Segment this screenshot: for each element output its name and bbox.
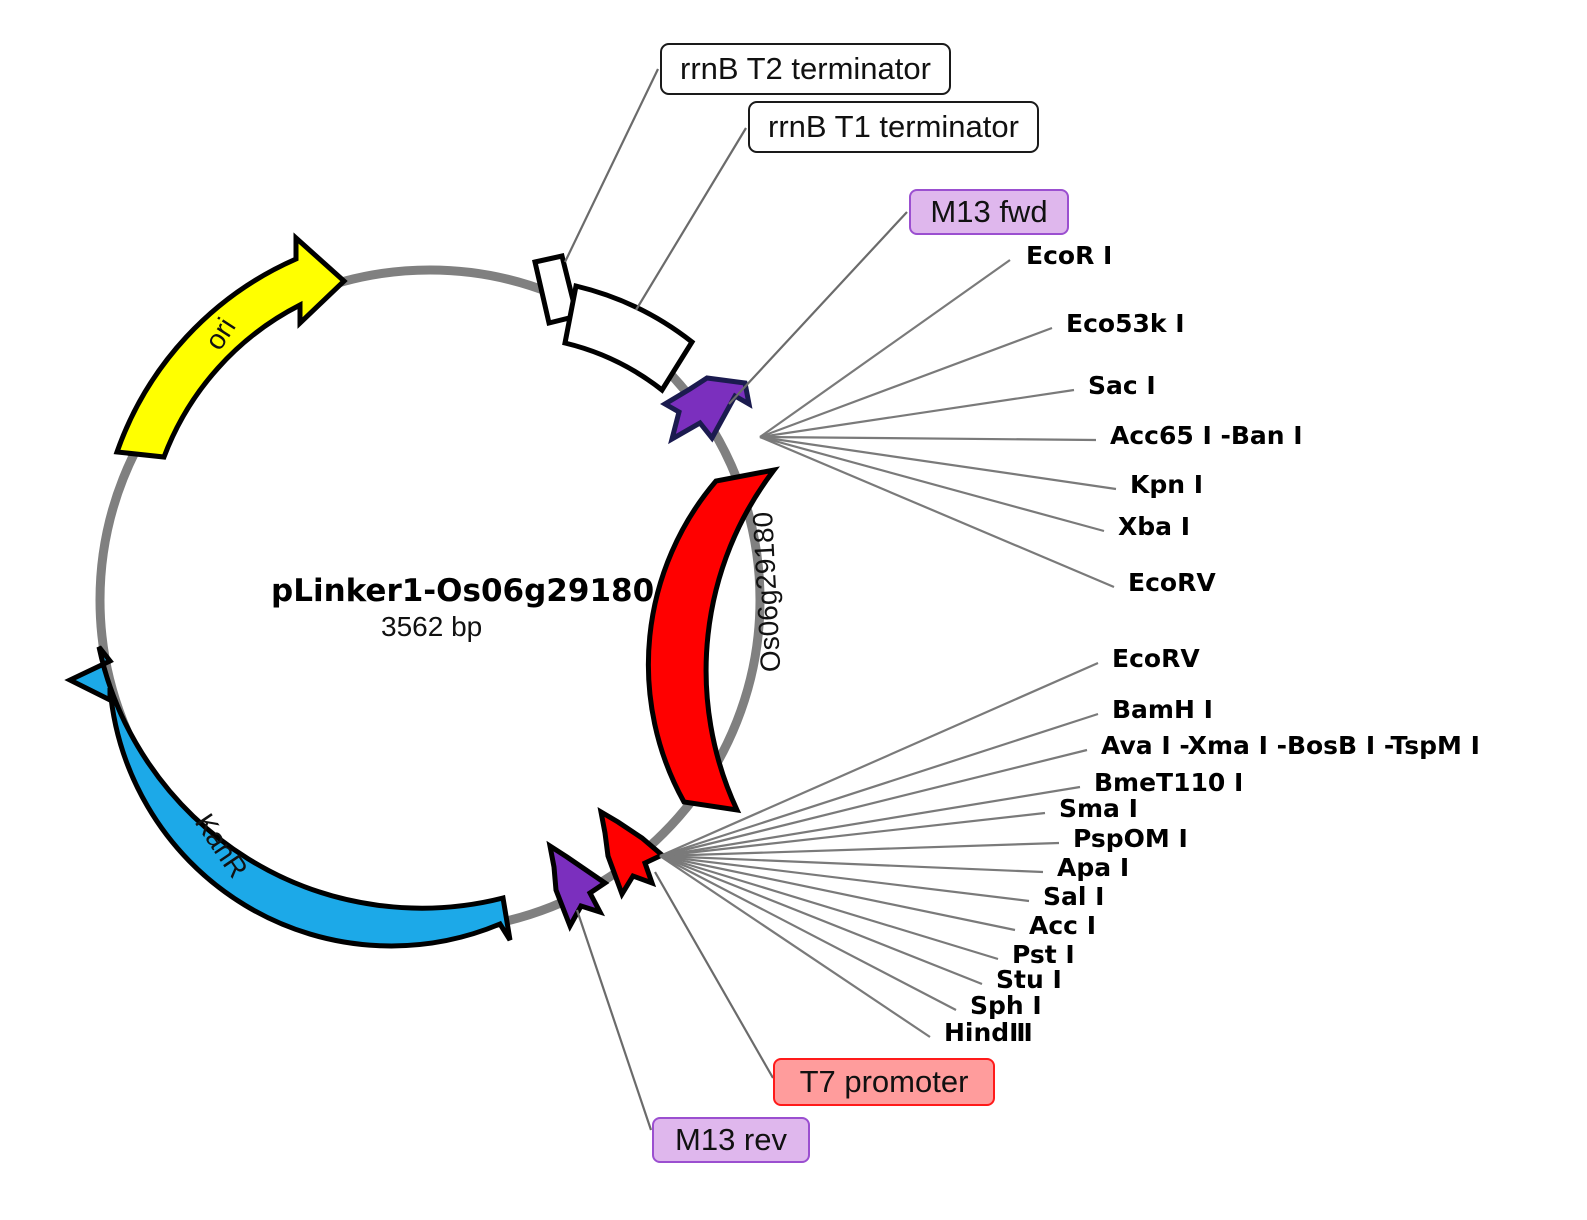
restriction-site-label: BamH I [1112,697,1213,722]
restriction-site-label: Sma I [1059,796,1138,821]
restriction-site-label: Sph I [970,993,1042,1018]
feature-ori[interactable] [117,238,344,457]
callout-rrnb-t1[interactable]: rrnB T1 terminator [748,101,1039,153]
callout-rrnb-t2[interactable]: rrnB T2 terminator [660,43,951,95]
restriction-site-label: Acc I [1029,913,1096,938]
restriction-site-label: EcoRV [1128,570,1216,595]
restriction-site-label: Acc65 I -Ban I [1110,423,1303,448]
restriction-site-label: EcoR I [1026,243,1112,268]
site-leader-line [760,390,1074,437]
site-leader-line [760,437,1104,531]
upper-site-leader-lines [760,260,1116,587]
restriction-site-label: Sac I [1088,373,1156,398]
restriction-site-label: Apa I [1057,855,1129,880]
plasmid-diagram-svg [0,0,1587,1220]
restriction-site-label: BmeT110 I [1094,770,1243,795]
restriction-site-label: Ava I -Xma I -BosB I -TspM I [1101,733,1480,758]
site-leader-line [760,437,1096,440]
restriction-site-label: Sal I [1043,884,1104,909]
restriction-site-label: EcoRV [1112,646,1200,671]
restriction-site-label: Kpn I [1130,472,1203,497]
plasmid-size: 3562 bp [381,613,482,641]
site-leader-line [760,437,1116,489]
feature-kanr[interactable] [70,647,510,946]
site-leader-line [660,663,1098,856]
callout-m13-rev[interactable]: M13 rev [652,1117,810,1163]
restriction-site-label: Stu I [996,967,1062,992]
plasmid-map: ori KanR Os06g29180 pLinker1-Os06g29180 … [0,0,1587,1220]
restriction-site-label: PspOM I [1073,826,1188,851]
restriction-site-label: Xba I [1118,514,1190,539]
callout-m13-fwd[interactable]: M13 fwd [909,189,1069,235]
callout-t7-promoter[interactable]: T7 promoter [773,1058,995,1106]
feature-rrnb-t1-box[interactable] [565,286,692,390]
site-leader-line [760,328,1052,437]
restriction-site-label: Pst I [1012,942,1075,967]
site-leader-line [760,437,1114,587]
plasmid-name: pLinker1-Os06g29180 [271,576,654,607]
restriction-site-label: Eco53k I [1066,311,1185,336]
restriction-site-label: HindⅢ [944,1020,1033,1045]
site-leader-line [760,260,1010,437]
